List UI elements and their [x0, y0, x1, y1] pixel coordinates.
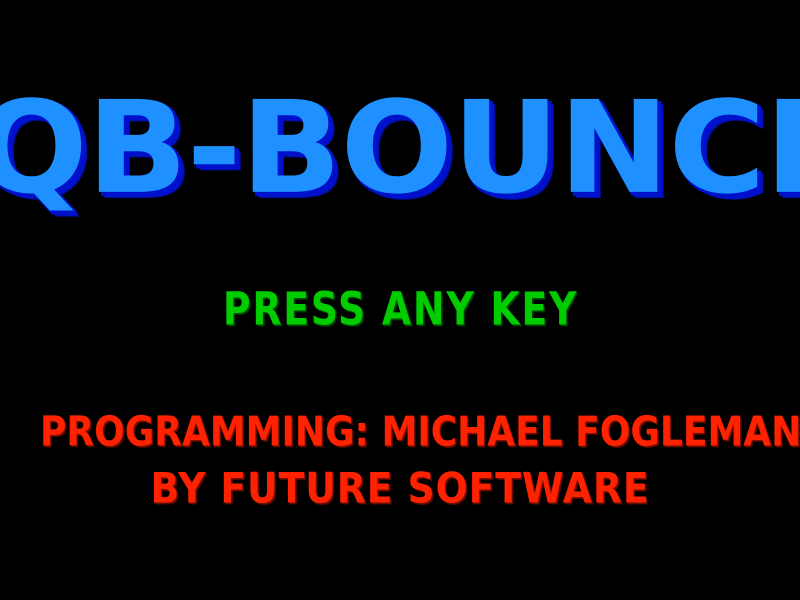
credit-line-programming: PROGRAMMING: MICHAEL FOGLEMAN	[40, 412, 760, 453]
press-any-key-text: PRESS ANY KEY	[222, 287, 577, 333]
press-any-key-prompt[interactable]: PRESS ANY KEY	[0, 288, 800, 332]
game-title-text: QB-BOUNCE	[0, 85, 800, 213]
game-title-screen[interactable]: QB-BOUNCE PRESS ANY KEY PROGRAMMING: MIC…	[0, 0, 800, 600]
credit-line-publisher: BY FUTURE SOFTWARE	[32, 468, 768, 510]
game-title: QB-BOUNCE	[0, 86, 800, 211]
credits-block: PROGRAMMING: MICHAEL FOGLEMAN BY FUTURE …	[0, 412, 800, 509]
